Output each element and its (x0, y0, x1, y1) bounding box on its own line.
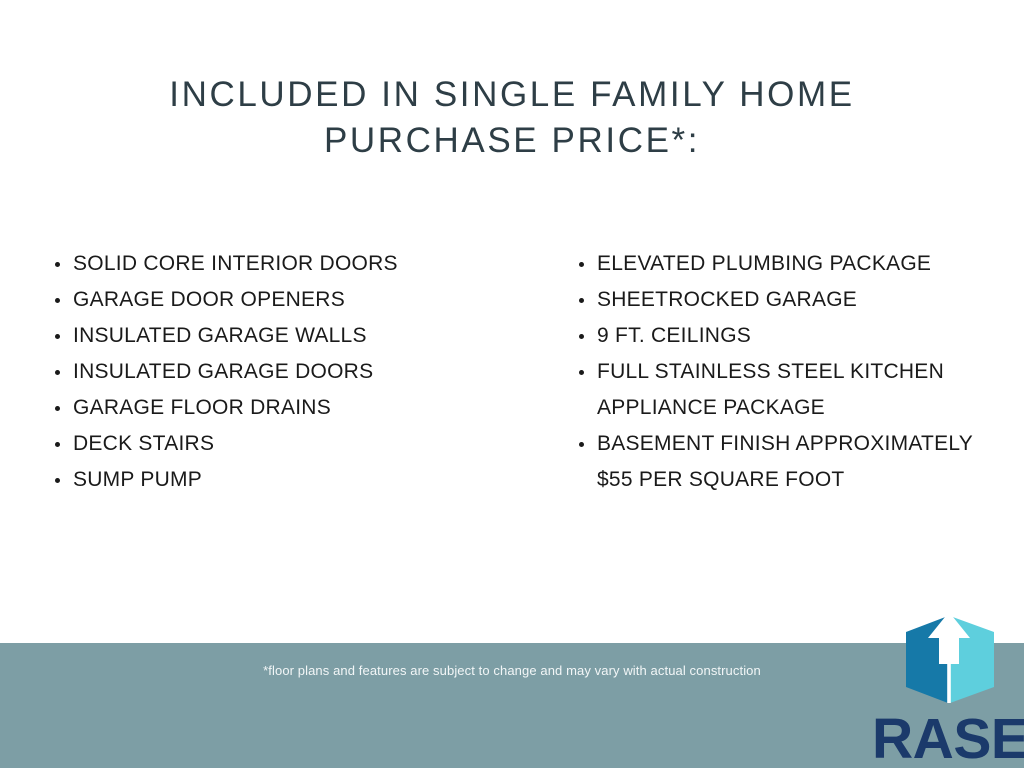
feature-column-right: ELEVATED PLUMBING PACKAGE SHEETROCKED GA… (574, 246, 1004, 498)
list-item: BASEMENT FINISH APPROXIMATELY $55 PER SQ… (574, 426, 1004, 498)
list-item: DECK STAIRS (50, 426, 520, 462)
footer-disclaimer: *floor plans and features are subject to… (0, 663, 1024, 678)
logo-wordmark: RASE (872, 710, 1024, 768)
feature-list-left: SOLID CORE INTERIOR DOORS GARAGE DOOR OP… (50, 246, 520, 498)
feature-column-left: SOLID CORE INTERIOR DOORS GARAGE DOOR OP… (50, 246, 520, 498)
list-item: SUMP PUMP (50, 462, 520, 498)
feature-list-right: ELEVATED PLUMBING PACKAGE SHEETROCKED GA… (574, 246, 1004, 498)
list-item: FULL STAINLESS STEEL KITCHEN APPLIANCE P… (574, 354, 1004, 426)
list-item: 9 FT. CEILINGS (574, 318, 1004, 354)
feature-columns: SOLID CORE INTERIOR DOORS GARAGE DOOR OP… (0, 246, 1024, 606)
list-item: ELEVATED PLUMBING PACKAGE (574, 246, 1004, 282)
rase-logo: RASE (872, 612, 1024, 768)
slide-canvas: INCLUDED IN SINGLE FAMILY HOME PURCHASE … (0, 0, 1024, 768)
footer-band (0, 643, 1024, 768)
list-item: SHEETROCKED GARAGE (574, 282, 1004, 318)
open-book-house-with-up-arrow-icon (904, 612, 996, 707)
list-item: GARAGE FLOOR DRAINS (50, 390, 520, 426)
page-title-line-1: INCLUDED IN SINGLE FAMILY HOME (62, 72, 962, 118)
page-title: INCLUDED IN SINGLE FAMILY HOME PURCHASE … (62, 72, 962, 164)
list-item: INSULATED GARAGE WALLS (50, 318, 520, 354)
page-title-line-2: PURCHASE PRICE*: (62, 118, 962, 164)
list-item: GARAGE DOOR OPENERS (50, 282, 520, 318)
list-item: SOLID CORE INTERIOR DOORS (50, 246, 520, 282)
list-item: INSULATED GARAGE DOORS (50, 354, 520, 390)
